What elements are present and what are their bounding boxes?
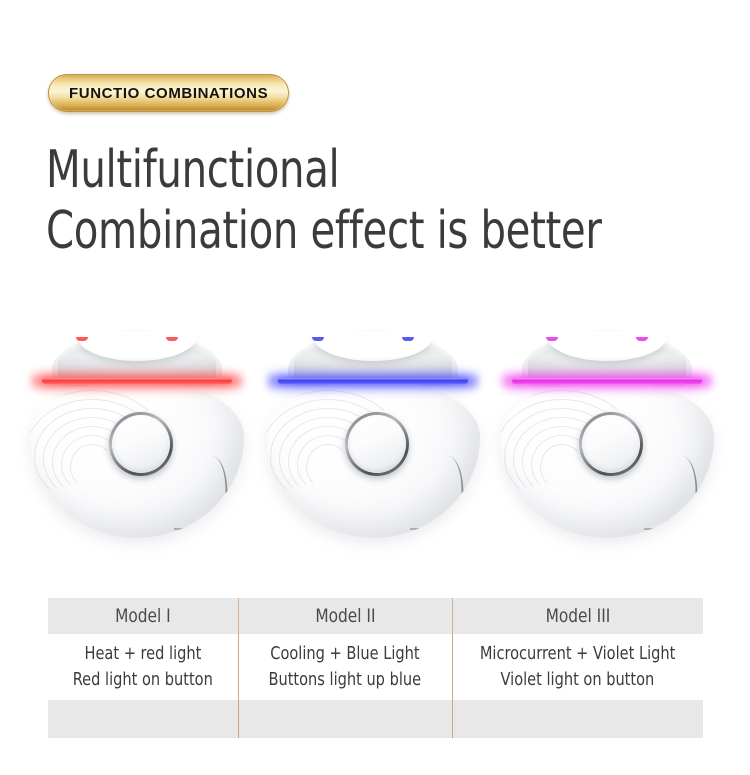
product-image-row — [0, 330, 750, 560]
device-power-button-face — [348, 415, 406, 473]
ridge-arc — [540, 444, 584, 490]
model-comparison-table: Model I Model II Model III Heat + red li… — [48, 598, 703, 738]
section-badge: FUNCTIO COMBINATIONS — [48, 74, 289, 112]
device-edge-sliver-lower — [644, 504, 690, 530]
table-header-row: Model I Model II Model III — [48, 598, 703, 634]
page-title-line-1: Multifunctional — [46, 140, 614, 201]
table-footer-cell-model-2 — [238, 700, 452, 738]
blue-light-strip — [274, 376, 472, 386]
product-device-model-1 — [22, 330, 252, 540]
product-device-model-2 — [258, 330, 488, 540]
violet-light-strip — [508, 376, 706, 386]
table-cell-line-2: Buttons light up blue — [269, 667, 422, 693]
device-power-button-face — [112, 415, 170, 473]
blue-light-core — [278, 378, 468, 384]
table-footer-cell-model-3 — [452, 700, 703, 738]
table-footer-cell-model-1 — [48, 700, 238, 738]
table-cell-model-3: Microcurrent + Violet Light Violet light… — [452, 634, 703, 700]
table-header-cell-model-3: Model III — [452, 598, 703, 634]
table-header-label: Model III — [545, 605, 610, 627]
table-header-label: Model II — [315, 605, 375, 627]
device-power-button[interactable] — [579, 412, 643, 476]
red-light-core — [42, 378, 232, 384]
device-edge-sliver — [427, 454, 470, 511]
device-power-button-face — [582, 415, 640, 473]
ridge-arc — [306, 444, 350, 490]
device-power-button[interactable] — [109, 412, 173, 476]
table-cell-line-2: Red light on button — [73, 667, 213, 693]
table-footer-row — [48, 700, 703, 738]
device-power-button[interactable] — [345, 412, 409, 476]
ridge-arc — [70, 444, 114, 490]
page-title: Multifunctional Combination effect is be… — [46, 140, 706, 262]
page-title-line-2: Combination effect is better — [46, 201, 614, 262]
badge-container: FUNCTIO COMBINATIONS — [48, 74, 289, 112]
device-edge-sliver — [191, 454, 234, 511]
violet-light-core — [512, 378, 702, 384]
table-header-label: Model I — [115, 605, 171, 627]
table-header-cell-model-1: Model I — [48, 598, 238, 634]
table-cell-line-1: Cooling + Blue Light — [270, 641, 419, 667]
table-header-cell-model-2: Model II — [238, 598, 452, 634]
table-cell-line-1: Heat + red light — [85, 641, 202, 667]
device-edge-sliver-lower — [410, 504, 456, 530]
table-cell-model-1: Heat + red light Red light on button — [48, 634, 238, 700]
table-row: Heat + red light Red light on button Coo… — [48, 634, 703, 700]
section-badge-label: FUNCTIO COMBINATIONS — [69, 85, 268, 102]
red-light-strip — [38, 376, 236, 386]
table-cell-line-1: Microcurrent + Violet Light — [480, 641, 675, 667]
table-cell-line-2: Violet light on button — [501, 667, 655, 693]
device-edge-sliver — [661, 454, 704, 511]
table-cell-model-2: Cooling + Blue Light Buttons light up bl… — [238, 634, 452, 700]
device-edge-sliver-lower — [174, 504, 220, 530]
product-device-model-3 — [492, 330, 722, 540]
